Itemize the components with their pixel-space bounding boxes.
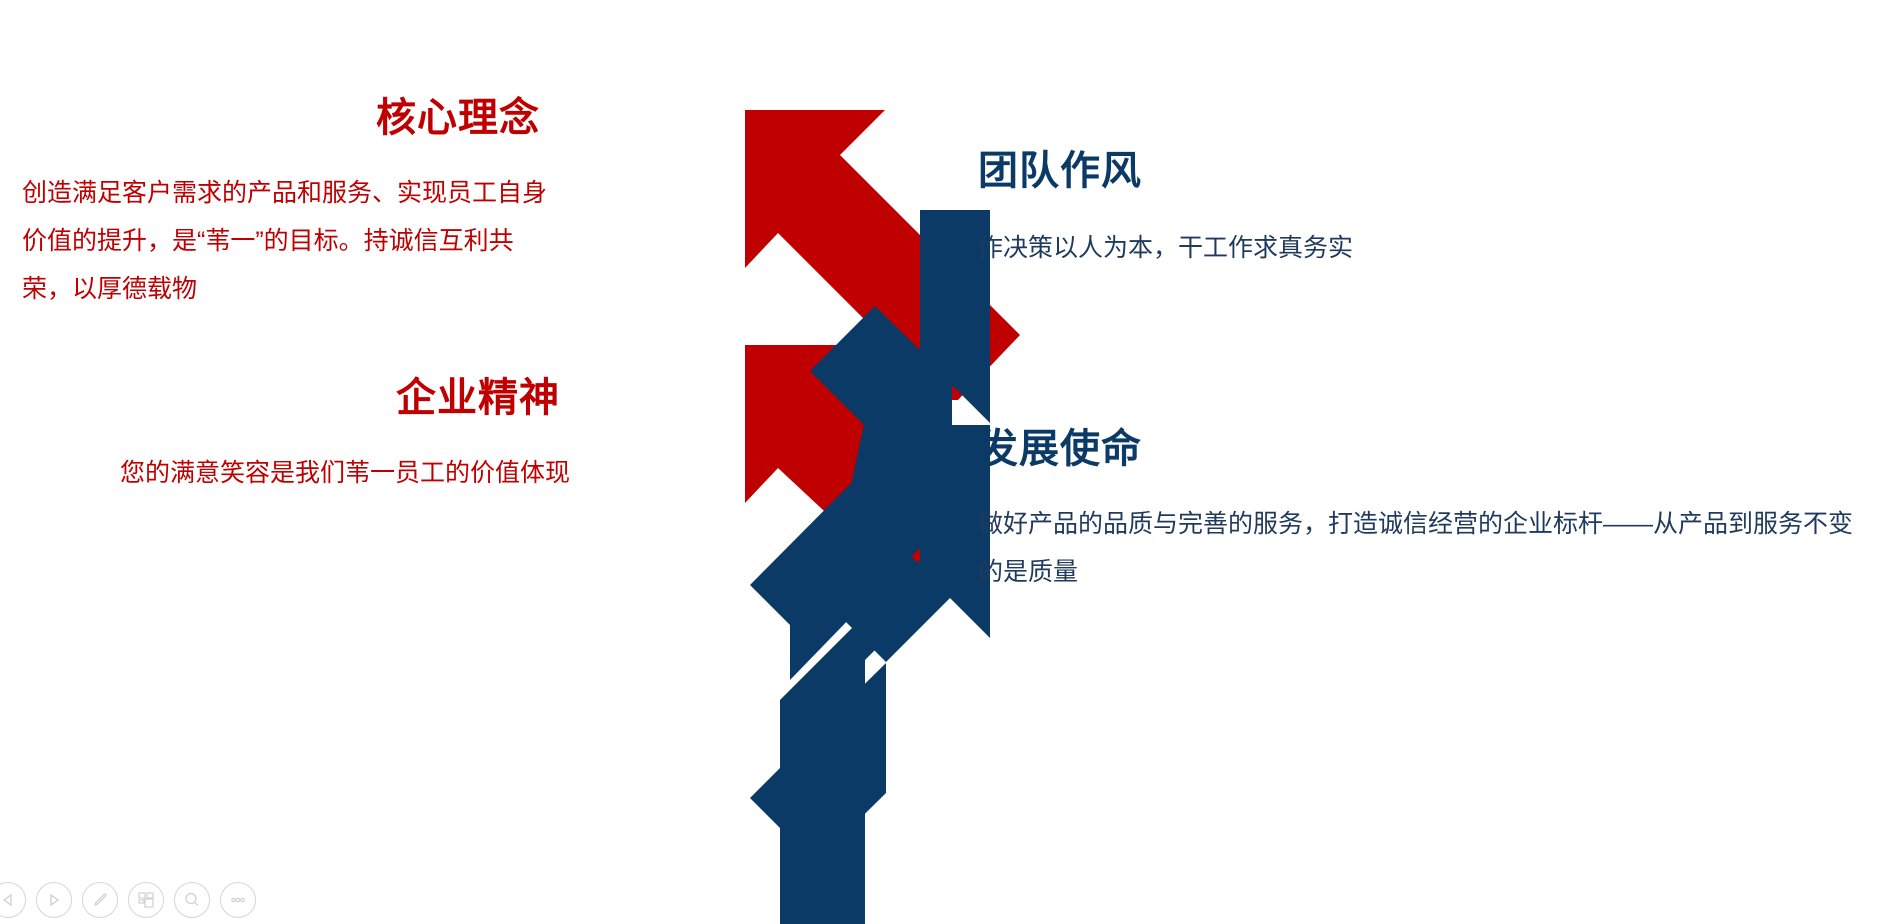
core-philosophy-title: 核心理念 — [0, 95, 540, 141]
core-philosophy-body: 创造满足客户需求的产品和服务、实现员工自身价值的提升，是“苇一”的目标。持诚信互… — [22, 169, 552, 313]
development-mission-title: 发展使命 — [978, 426, 1878, 472]
slideshow-toolbar — [4, 882, 256, 918]
team-style-body: 作决策以人为本，干工作求真务实 — [978, 224, 1878, 272]
play-slide-icon[interactable] — [36, 882, 72, 918]
zoom-magnifier-icon[interactable] — [174, 882, 210, 918]
enterprise-spirit-body: 您的满意笑容是我们苇一员工的价值体现 — [0, 449, 570, 497]
more-options-icon[interactable] — [220, 882, 256, 918]
development-mission-body: 做好产品的品质与完善的服务，打造诚信经营的企业标杆——从产品到服务不变的是质量 — [978, 500, 1858, 596]
enterprise-spirit-block: 企业精神 您的满意笑容是我们苇一员工的价值体现 — [0, 375, 670, 497]
enterprise-spirit-title: 企业精神 — [0, 375, 560, 421]
team-style-title: 团队作风 — [978, 148, 1878, 194]
presentation-slide: 核心理念 创造满足客户需求的产品和服务、实现员工自身价值的提升，是“苇一”的目标… — [0, 0, 1890, 924]
previous-slide-icon[interactable] — [0, 882, 26, 918]
slides-overview-icon[interactable] — [128, 882, 164, 918]
core-philosophy-block: 核心理念 创造满足客户需求的产品和服务、实现员工自身价值的提升，是“苇一”的目标… — [0, 95, 670, 313]
team-style-block: 团队作风 作决策以人为本，干工作求真务实 — [978, 148, 1878, 272]
development-mission-block: 发展使命 做好产品的品质与完善的服务，打造诚信经营的企业标杆——从产品到服务不变… — [978, 426, 1878, 596]
pen-icon[interactable] — [82, 882, 118, 918]
